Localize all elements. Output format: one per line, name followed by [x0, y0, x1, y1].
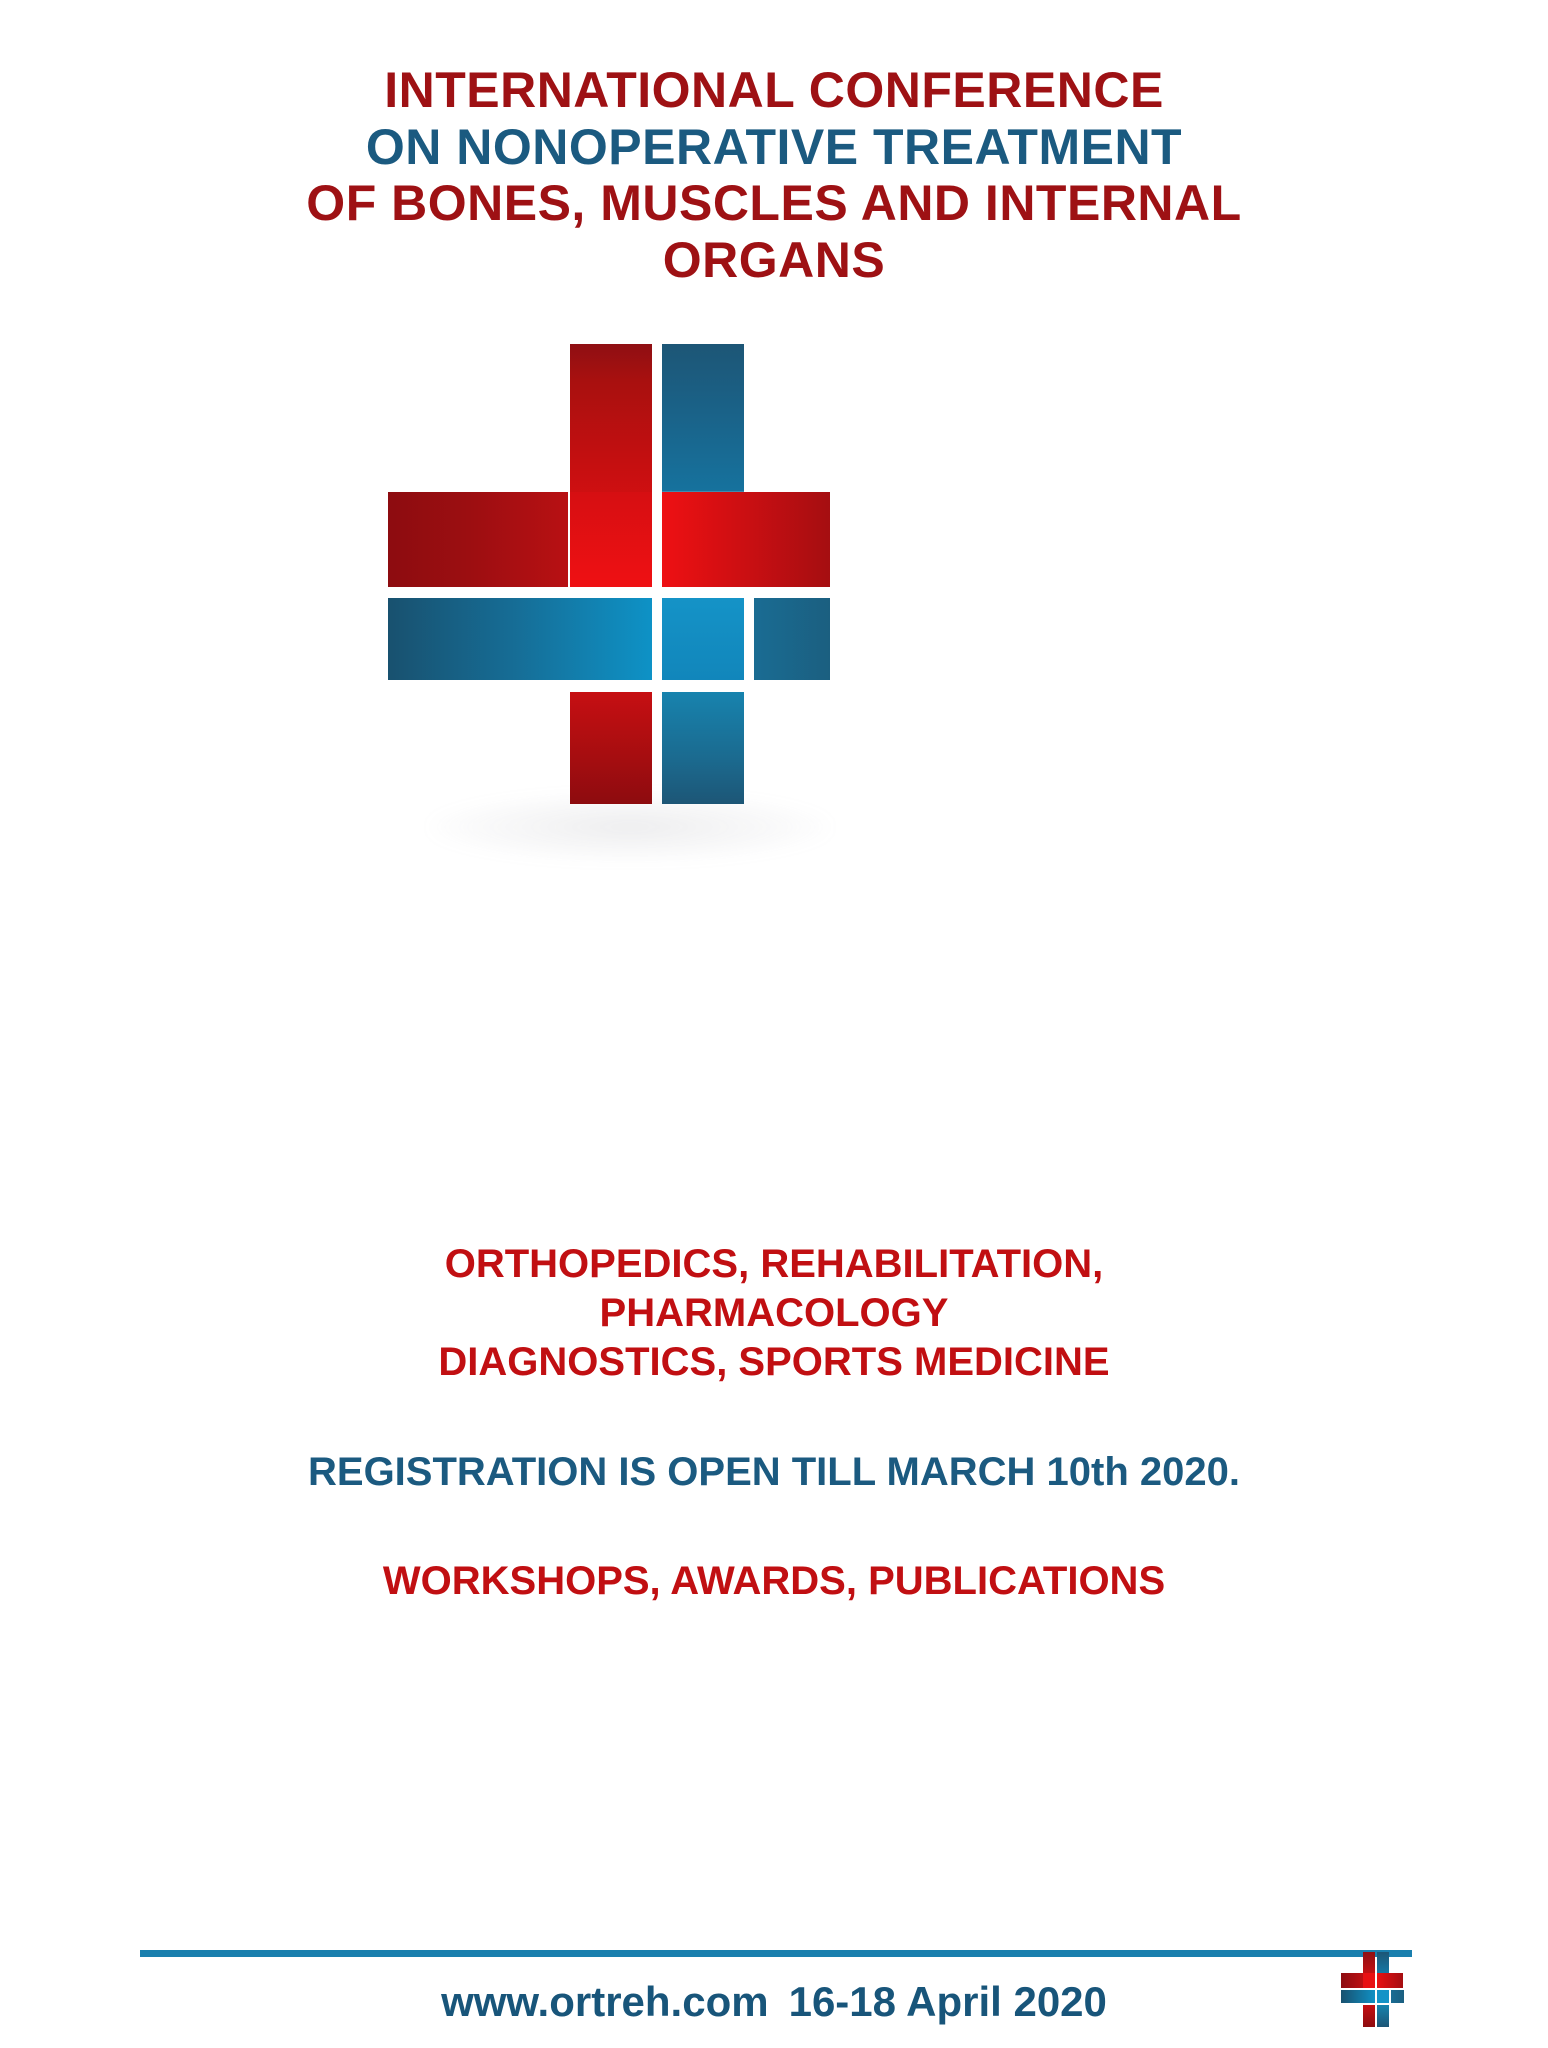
- mini-logo-horizontal-red-left-bar: [1341, 1973, 1363, 1988]
- poster-footer: www.ortreh.com16-18 April 2020: [0, 1962, 1548, 2048]
- topics-line-3: DIAGNOSTICS, SPORTS MEDICINE: [0, 1338, 1548, 1387]
- logo-vertical-blue-bottom-bar: [662, 692, 744, 804]
- registration-notice: REGISTRATION IS OPEN TILL MARCH 10th 202…: [0, 1448, 1548, 1497]
- footer-double-cross-logo-icon: [1337, 1950, 1415, 2032]
- footer-text-row: www.ortreh.com16-18 April 2020: [0, 1978, 1548, 2026]
- footer-divider: [140, 1950, 1412, 1957]
- poster-header: INTERNATIONAL CONFERENCE ON NONOPERATIVE…: [0, 62, 1548, 288]
- conference-dates: 16-18 April 2020: [789, 1978, 1107, 2025]
- logo-horizontal-blue-right-bar: [754, 598, 830, 680]
- logo-vertical-red-bottom-bar: [570, 692, 652, 804]
- poster-body-text: ORTHOPEDICS, REHABILITATION, PHARMACOLOG…: [0, 1240, 1548, 1606]
- mini-logo-vertical-blue-bottom-bar: [1377, 2005, 1389, 2027]
- highlights-line: WORKSHOPS, AWARDS, PUBLICATIONS: [0, 1557, 1548, 1606]
- mini-logo-vertical-red-bottom-bar: [1363, 2005, 1375, 2027]
- mini-logo-horizontal-red-right-bar: [1377, 1973, 1403, 1988]
- topics-line-1: ORTHOPEDICS, REHABILITATION,: [0, 1240, 1548, 1289]
- mini-logo-horizontal-red-center-bar: [1363, 1973, 1375, 1988]
- logo-vertical-blue-top-bar: [662, 344, 744, 512]
- mini-logo-horizontal-blue-left-bar: [1341, 1990, 1375, 2003]
- mini-logo-horizontal-blue-right-bar: [1391, 1990, 1404, 2003]
- logo-horizontal-blue-left-bar: [388, 598, 652, 680]
- mini-logo-horizontal-blue-center-bar: [1377, 1990, 1389, 2003]
- conference-poster: INTERNATIONAL CONFERENCE ON NONOPERATIVE…: [0, 0, 1548, 2048]
- website-link[interactable]: www.ortreh.com: [441, 1978, 769, 2025]
- logo-horizontal-red-left-bar: [388, 492, 568, 587]
- logo-horizontal-red-right-bar: [662, 492, 830, 587]
- topics-line-2: PHARMACOLOGY: [0, 1289, 1548, 1338]
- header-line-2: ON NONOPERATIVE TREATMENT: [0, 119, 1548, 176]
- header-line-1: INTERNATIONAL CONFERENCE: [0, 62, 1548, 119]
- header-line-4: ORGANS: [0, 232, 1548, 289]
- logo-container: [0, 330, 1548, 890]
- mini-logo-vertical-blue-top-bar: [1377, 1952, 1389, 1973]
- spacer-2: [0, 1497, 1548, 1557]
- header-line-3: OF BONES, MUSCLES AND INTERNAL: [0, 175, 1548, 232]
- spacer-1: [0, 1386, 1548, 1448]
- double-cross-logo-icon: [374, 330, 844, 805]
- logo-horizontal-blue-center-bar: [662, 598, 744, 680]
- logo-horizontal-red-center-bar: [570, 492, 652, 587]
